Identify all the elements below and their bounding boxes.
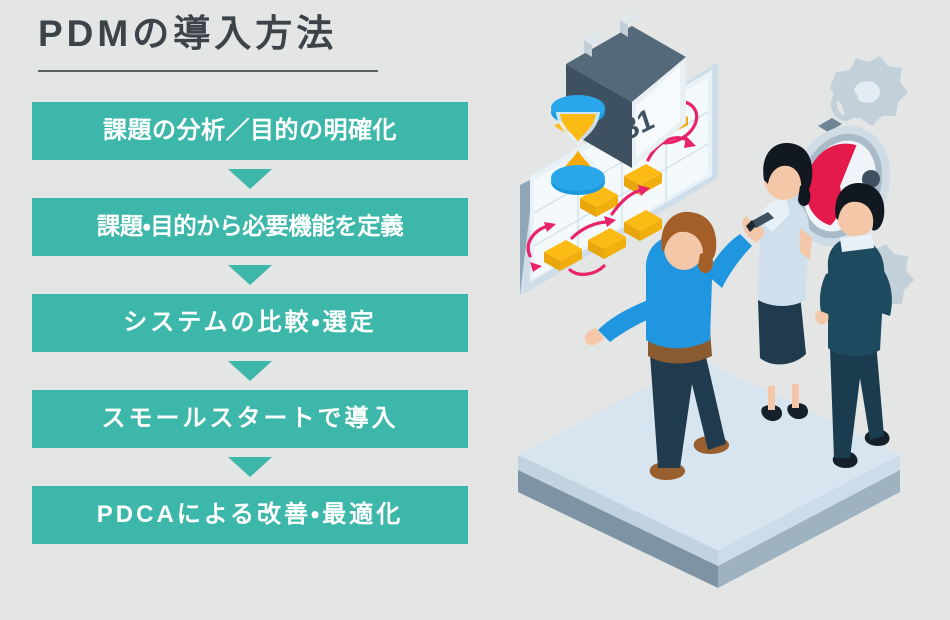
step-box-3[interactable]: システムの比較・選定 (32, 294, 468, 352)
flow-step-2: 課題・目的から必要機能を定義 (0, 198, 500, 256)
step-label-5: PDCAによる改善・最適化 (97, 503, 403, 527)
flow-arrow-3 (0, 352, 500, 390)
flow-step-4: スモールスタートで導入 (0, 390, 500, 448)
step-label-2: 課題・目的から必要機能を定義 (97, 215, 404, 239)
step-box-2[interactable]: 課題・目的から必要機能を定義 (32, 198, 468, 256)
flow-panel: PDMの導入方法 課題の分析／目的の明確化 課題・目的から必要機能を定義 (0, 0, 500, 620)
person-woman-blue-top (742, 143, 812, 421)
step-label-3: システムの比較・選定 (123, 311, 376, 335)
flow-step-3: システムの比較・選定 (0, 294, 500, 352)
flow-arrow-4 (0, 448, 500, 486)
triangle-down-icon (228, 361, 272, 381)
flow-arrow-1 (0, 160, 500, 198)
poster-root: PDMの導入方法 課題の分析／目的の明確化 課題・目的から必要機能を定義 (0, 0, 950, 620)
step-label-1: 課題の分析／目的の明確化 (103, 119, 397, 143)
title-underline (38, 70, 378, 72)
triangle-down-icon (228, 265, 272, 285)
page-title: PDMの導入方法 (38, 14, 337, 55)
process-flow: 課題の分析／目的の明確化 課題・目的から必要機能を定義 システムの比較・選定 (0, 102, 500, 544)
isometric-team-planning-illustration: ! 31 (500, 0, 950, 620)
step-box-4[interactable]: スモールスタートで導入 (32, 390, 468, 448)
flow-arrow-2 (0, 256, 500, 294)
flow-step-5: PDCAによる改善・最適化 (0, 486, 500, 544)
flow-step-1: 課題の分析／目的の明確化 (0, 102, 500, 160)
step-box-5[interactable]: PDCAによる改善・最適化 (32, 486, 468, 544)
step-box-1[interactable]: 課題の分析／目的の明確化 (32, 102, 468, 160)
triangle-down-icon (228, 169, 272, 189)
triangle-down-icon (228, 457, 272, 477)
step-label-4: スモールスタートで導入 (102, 407, 399, 431)
